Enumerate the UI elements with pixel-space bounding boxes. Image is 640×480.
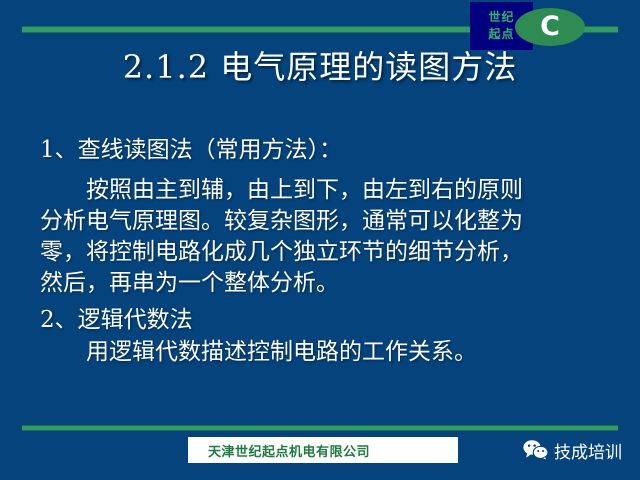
wechat-icon — [523, 439, 549, 461]
body-line-1: 按照由主到辅，由上到下，由左到右的原则 — [40, 175, 615, 206]
body-line-5: 用逻辑代数描述控制电路的工作关系。 — [40, 337, 615, 368]
corporate-logo: 世纪 起点 C — [470, 0, 588, 52]
body-line-2: 分析电气原理图。较复杂图形，通常可以化整为 — [40, 206, 615, 237]
footer-company-box: 天津世纪起点机电有限公司 — [188, 437, 458, 463]
body-line-4: 然后，再串为一个整体分析。 — [40, 268, 615, 299]
body-line-heading-2: 2、逻辑代数法 — [40, 305, 615, 336]
body-line-3: 零，将控制电路化成几个独立环节的细节分析， — [40, 237, 615, 268]
logo-text-line-1: 世纪 — [488, 9, 514, 26]
footer-company-name: 天津世纪起点机电有限公司 — [188, 441, 370, 460]
slide-body: 1、查线读图法（常用方法）： 按照由主到辅，由上到下，由左到右的原则 分析电气原… — [40, 135, 615, 368]
footer-brand-name: 技成培训 — [554, 438, 622, 463]
presentation-slide: 世纪 起点 C 2.1.2 电气原理的读图方法 1、查线读图法（常用方法）： 按… — [0, 0, 640, 480]
footer-divider-line — [22, 425, 618, 431]
body-line-heading-1: 1、查线读图法（常用方法）： — [40, 135, 615, 166]
logo-text-line-2: 起点 — [488, 26, 514, 43]
logo-letter-c: C — [540, 13, 560, 40]
footer-brand: 技成培训 — [523, 437, 622, 463]
page-title: 2.1.2 电气原理的读图方法 — [0, 46, 640, 88]
logo-ellipse-badge: C — [515, 8, 585, 46]
